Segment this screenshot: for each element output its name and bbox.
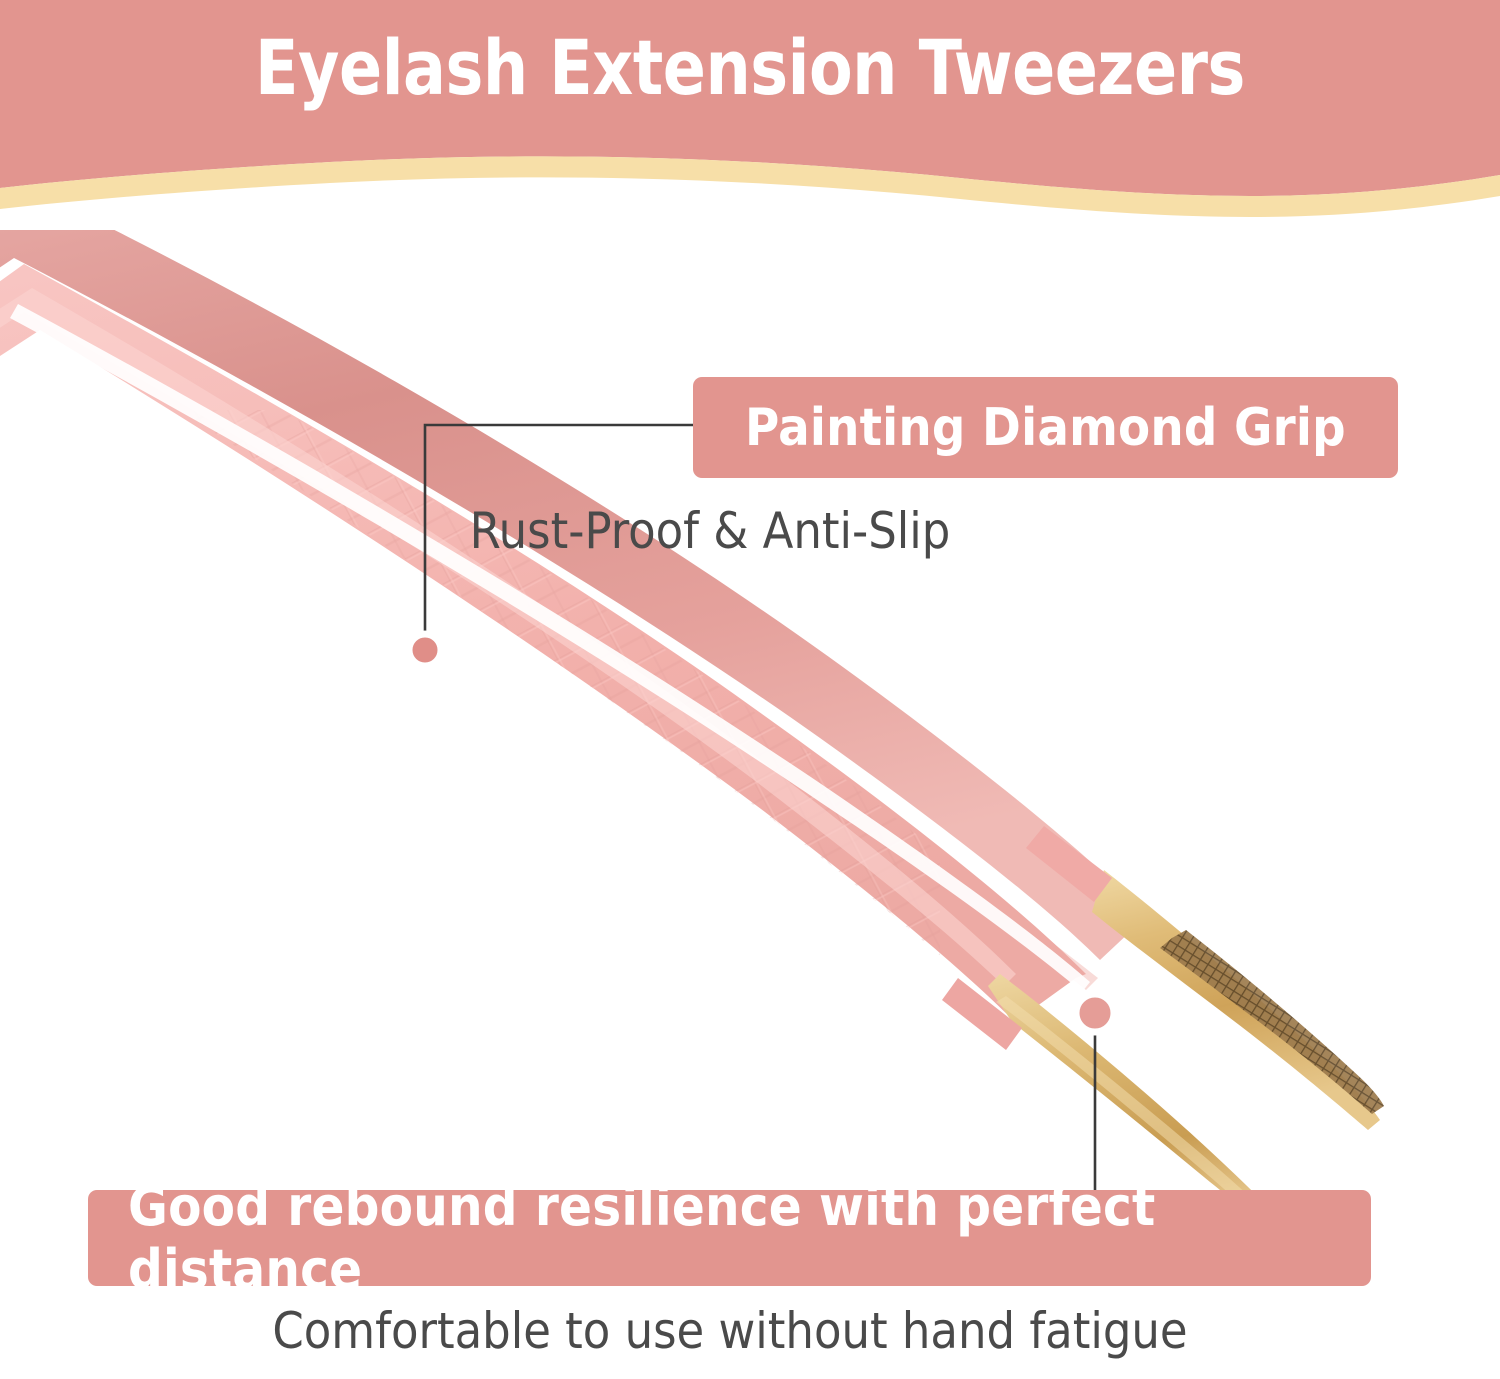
callout-badge-rebound: Good rebound resilience with perfect dis…	[88, 1190, 1371, 1286]
callout-subtitle-rebound: Comfortable to use without hand fatigue	[0, 1302, 1460, 1360]
callout-badge-grip: Painting Diamond Grip	[693, 377, 1398, 478]
page-title: Eyelash Extension Tweezers	[53, 26, 1448, 110]
tweezers-illustration	[0, 230, 1500, 1190]
callout-subtitle-grip: Rust-Proof & Anti-Slip	[0, 502, 1420, 560]
product-infographic: Eyelash Extension Tweezers	[0, 0, 1500, 1379]
tweezer-tip-upper-mesh	[1160, 930, 1384, 1114]
header-banner: Eyelash Extension Tweezers	[0, 0, 1500, 230]
product-image	[0, 230, 1500, 1190]
